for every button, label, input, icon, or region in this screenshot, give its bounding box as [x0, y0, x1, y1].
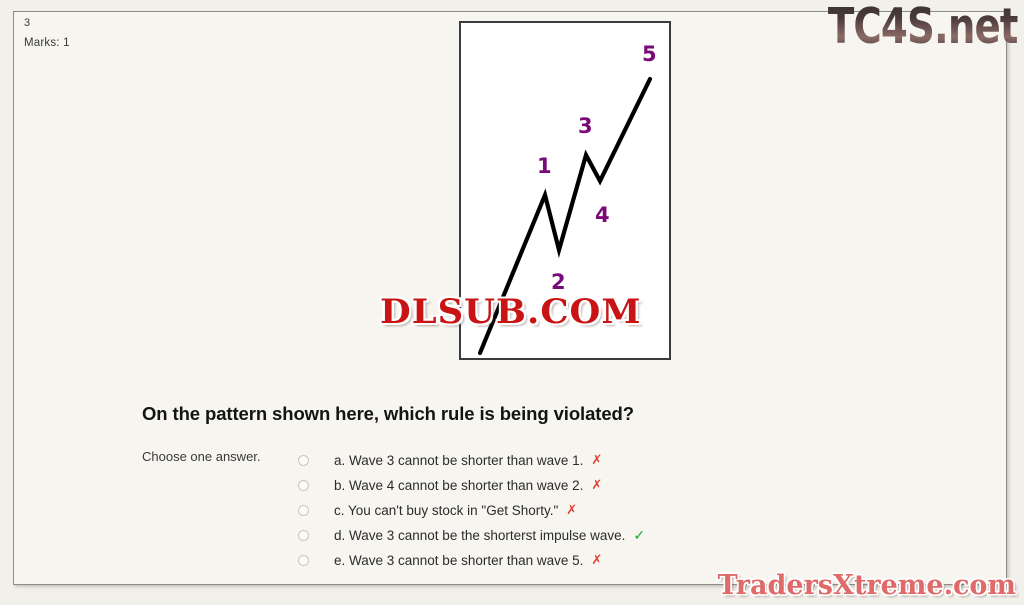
cross-icon-b: ✗: [591, 478, 602, 493]
question-number: 3: [24, 17, 30, 29]
question-panel: 3 Marks: 1 1 2 3 4 5 DLSUB.COM On the pa…: [13, 11, 1007, 585]
answer-list: a. Wave 3 cannot be shorter than wave 1.…: [298, 448, 858, 573]
cross-icon-e: ✗: [591, 553, 602, 568]
wave-label-1: 1: [537, 154, 552, 178]
radio-button-c[interactable]: [298, 505, 309, 516]
answer-label-d: d. Wave 3 cannot be the shorterst impuls…: [334, 528, 625, 543]
answer-option-a[interactable]: a. Wave 3 cannot be shorter than wave 1.…: [298, 448, 858, 473]
cross-icon-c: ✗: [566, 503, 577, 518]
radio-button-b[interactable]: [298, 480, 309, 491]
quiz-page: 3 Marks: 1 1 2 3 4 5 DLSUB.COM On the pa…: [0, 0, 1024, 605]
cross-icon-a: ✗: [591, 453, 602, 468]
page-title: On the pattern shown here, which rule is…: [142, 403, 634, 425]
answer-label-b: b. Wave 4 cannot be shorter than wave 2.: [334, 478, 583, 493]
wave-label-3: 3: [578, 114, 593, 138]
wave-label-5: 5: [642, 42, 657, 66]
question-marks: Marks: 1: [24, 37, 70, 49]
choose-one-answer-label: Choose one answer.: [142, 449, 261, 464]
answer-option-b[interactable]: b. Wave 4 cannot be shorter than wave 2.…: [298, 473, 858, 498]
answer-label-a: a. Wave 3 cannot be shorter than wave 1.: [334, 453, 583, 468]
answer-label-e: e. Wave 3 cannot be shorter than wave 5.: [334, 553, 583, 568]
answer-option-d[interactable]: d. Wave 3 cannot be the shorterst impuls…: [298, 523, 858, 548]
radio-button-d[interactable]: [298, 530, 309, 541]
check-icon-d: ✓: [633, 528, 645, 544]
radio-button-e[interactable]: [298, 555, 309, 566]
wave-label-4: 4: [595, 203, 610, 227]
wave-label-2: 2: [551, 270, 566, 294]
watermark-tradersxtreme: TradersXtreme.com: [718, 570, 1016, 601]
radio-button-a[interactable]: [298, 455, 309, 466]
watermark-tc4s: TC4S.net: [828, 0, 1018, 55]
answer-option-c[interactable]: c. You can't buy stock in "Get Shorty." …: [298, 498, 858, 523]
watermark-dlsub: DLSUB.COM: [380, 292, 642, 332]
answer-label-c: c. You can't buy stock in "Get Shorty.": [334, 503, 558, 518]
